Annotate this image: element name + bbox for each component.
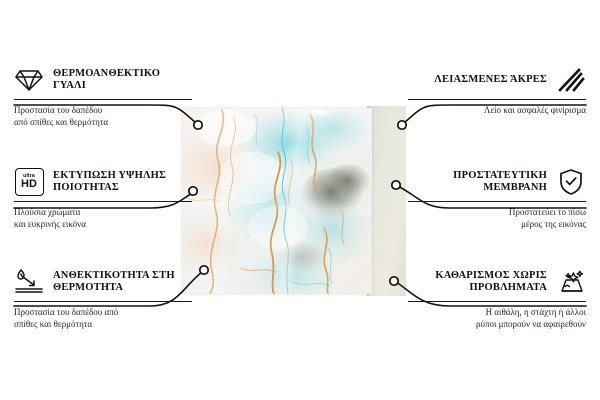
- feature-title: ΠΡΟΣΤΑΤΕΥΤΙΚΗ ΜΕΜΒΡΑΝΗ: [408, 170, 547, 195]
- feature-description: Η αιθάλη, η στάχτη ή άλλοι ρύποι μπορούν…: [408, 307, 586, 330]
- ultra-hd-hd-text: HD: [21, 179, 37, 190]
- feature-description: Πλούσια χρώματα και ευκρινής εικόνα: [14, 207, 192, 230]
- desc-line-2: και ευκρινής εικόνα: [14, 219, 192, 231]
- sponge-sparkle-icon: [556, 267, 586, 297]
- feature-polished-edges: ΛΕΙΑΣΜΕΝΕΣ ΆΚΡΕΣ Λείο και ασφαλές φινίρι…: [408, 64, 586, 117]
- flame-deflect-icon: [14, 267, 44, 297]
- desc-line-2: σπίθες και θερμότητα: [14, 319, 192, 331]
- feature-description: Προστατεύει το πίσω μέρος της εικόνας: [408, 207, 586, 230]
- divider: [14, 201, 192, 202]
- divider: [408, 301, 586, 302]
- feature-high-quality-print: ultra HD ΕΚΤΥΠΩΣΗ ΥΨΗΛΗΣ ΠΟΙΟΤΗΤΑΣ Πλούσ…: [14, 166, 192, 230]
- feature-title: ΕΚΤΥΠΩΣΗ ΥΨΗΛΗΣ ΠΟΙΟΤΗΤΑΣ: [53, 170, 192, 195]
- desc-line-1: Η αιθάλη, η στάχτη ή άλλοι: [408, 307, 586, 319]
- infographic-canvas: ΘΕΡΜΟΑΝΘΕΚΤΙΚΟ ΓΥΑΛΙ Προστασία του δαπέδ…: [0, 0, 600, 400]
- desc-line-1: Προστασία του δαπέδου από: [14, 307, 192, 319]
- product-image: [182, 108, 406, 294]
- feature-header: ultra HD ΕΚΤΥΠΩΣΗ ΥΨΗΛΗΣ ΠΟΙΟΤΗΤΑΣ: [14, 166, 192, 198]
- feature-easy-cleaning: ΚΑΘΑΡΙΣΜΟΣ ΧΩΡΙΣ ΠΡΟΒΛΗΜΑΤΑ Η αιθάλη, η …: [408, 266, 586, 330]
- divider: [408, 99, 586, 100]
- divider: [14, 301, 192, 302]
- feature-header: ΘΕΡΜΟΑΝΘΕΚΤΙΚΟ ΓΥΑΛΙ: [14, 64, 192, 96]
- feature-protective-membrane: ΠΡΟΣΤΑΤΕΥΤΙΚΗ ΜΕΜΒΡΑΝΗ Προστατεύει το πί…: [408, 166, 586, 230]
- feature-description: Προστασία του δαπέδου από σπίθες και θερ…: [14, 105, 192, 128]
- divider: [408, 201, 586, 202]
- desc-line-1: Λείο και ασφαλές φινίρισμα: [408, 105, 586, 117]
- diagonal-lines-icon: [556, 65, 586, 95]
- feature-title: ΑΝΘΕΚΤΙΚΟΤΗΤΑ ΣΤΗ ΘΕΡΜΟΤΗΤΑ: [53, 270, 192, 295]
- feature-description: Λείο και ασφαλές φινίρισμα: [408, 105, 586, 117]
- feature-header: ΑΝΘΕΚΤΙΚΟΤΗΤΑ ΣΤΗ ΘΕΡΜΟΤΗΤΑ: [14, 266, 192, 298]
- artwork-print: [182, 108, 372, 294]
- feature-title: ΚΑΘΑΡΙΣΜΟΣ ΧΩΡΙΣ ΠΡΟΒΛΗΜΑΤΑ: [408, 270, 547, 295]
- feature-title: ΛΕΙΑΣΜΕΝΕΣ ΆΚΡΕΣ: [408, 74, 547, 87]
- glass-panel-side-face: [368, 106, 406, 296]
- desc-line-1: Προστασία του δαπέδου: [14, 105, 192, 117]
- desc-line-1: Πλούσια χρώματα: [14, 207, 192, 219]
- feature-header: ΚΑΘΑΡΙΣΜΟΣ ΧΩΡΙΣ ΠΡΟΒΛΗΜΑΤΑ: [408, 266, 586, 298]
- feature-heat-resistant-glass: ΘΕΡΜΟΑΝΘΕΚΤΙΚΟ ΓΥΑΛΙ Προστασία του δαπέδ…: [14, 64, 192, 128]
- desc-line-2: μέρος της εικόνας: [408, 219, 586, 231]
- feature-heat-durability: ΑΝΘΕΚΤΙΚΟΤΗΤΑ ΣΤΗ ΘΕΡΜΟΤΗΤΑ Προστασία το…: [14, 266, 192, 330]
- diamond-icon: [14, 65, 44, 95]
- desc-line-2: από σπίθες και θερμότητα: [14, 117, 192, 129]
- desc-line-2: ρύποι μπορούν να αφαιρεθούν: [408, 319, 586, 331]
- feature-description: Προστασία του δαπέδου από σπίθες και θερ…: [14, 307, 192, 330]
- abstract-marble-ink-graphic: [182, 108, 372, 294]
- feature-header: ΛΕΙΑΣΜΕΝΕΣ ΆΚΡΕΣ: [408, 64, 586, 96]
- desc-line-1: Προστατεύει το πίσω: [408, 207, 586, 219]
- ultra-hd-icon: ultra HD: [14, 167, 44, 197]
- feature-header: ΠΡΟΣΤΑΤΕΥΤΙΚΗ ΜΕΜΒΡΑΝΗ: [408, 166, 586, 198]
- feature-title: ΘΕΡΜΟΑΝΘΕΚΤΙΚΟ ΓΥΑΛΙ: [53, 68, 192, 93]
- shield-check-icon: [556, 167, 586, 197]
- divider: [14, 99, 192, 100]
